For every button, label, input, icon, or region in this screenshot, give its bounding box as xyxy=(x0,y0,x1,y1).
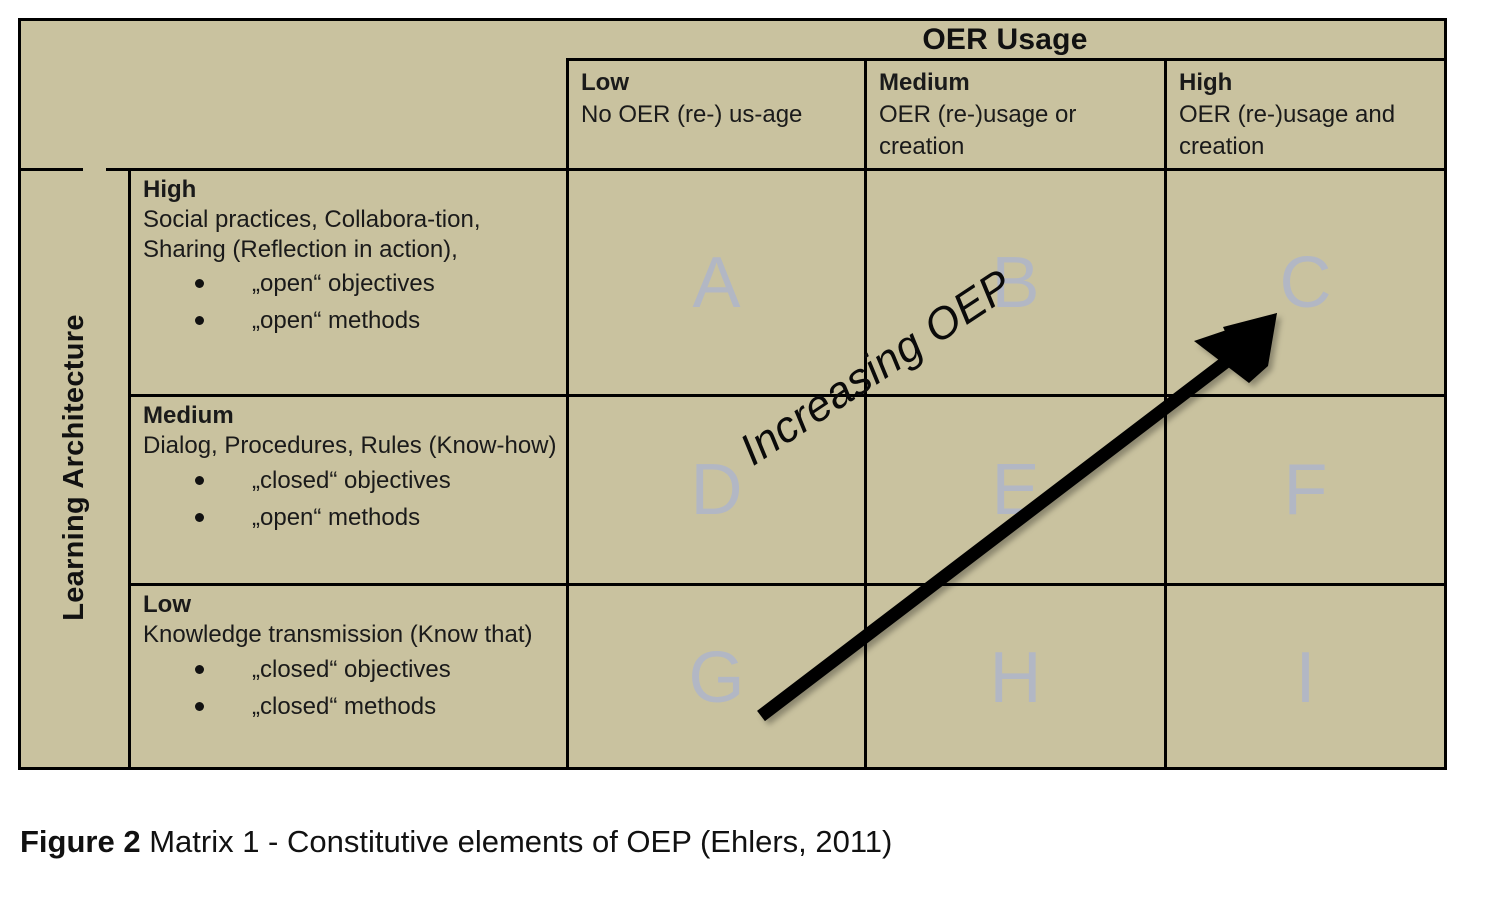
figure-caption: Figure 2 Matrix 1 - Constitutive element… xyxy=(20,824,892,860)
column-header-high: High OER (re-)usage and creation xyxy=(1167,61,1444,166)
matrix-cell-H: H xyxy=(867,586,1164,770)
list-item: „open“ methods xyxy=(195,302,558,339)
figure-caption-label: Figure 2 xyxy=(20,824,141,859)
row-header-low-description: Knowledge transmission (Know that) xyxy=(143,620,558,650)
list-item: „closed“ methods xyxy=(195,688,558,725)
row-header-high-description: Social practices, Collabora-tion, Sharin… xyxy=(143,205,558,265)
column-header-high-description: OER (re-)usage and creation xyxy=(1179,99,1434,163)
oep-matrix-table: OER Usage Low No OER (re-) us-age Medium… xyxy=(18,18,1447,770)
column-header-medium: Medium OER (re-)usage or creation xyxy=(867,61,1164,166)
list-item: „open“ objectives xyxy=(195,265,558,302)
column-header-medium-level: Medium xyxy=(879,67,1154,99)
matrix-cell-G: G xyxy=(569,586,864,770)
row-header-high: High Social practices, Collabora-tion, S… xyxy=(131,171,566,394)
row-header-high-bullets: „open“ objectives „open“ methods xyxy=(143,265,558,339)
column-axis-title: OER Usage xyxy=(566,21,1444,58)
row-header-medium-description: Dialog, Procedures, Rules (Know-how) xyxy=(143,431,558,461)
matrix-cell-C: C xyxy=(1167,171,1444,394)
column-header-low-level: Low xyxy=(581,67,854,99)
row-axis-title: Learning Architecture xyxy=(21,168,128,767)
column-header-low: Low No OER (re-) us-age xyxy=(569,61,864,166)
row-header-low-level: Low xyxy=(143,590,558,620)
figure-caption-text: Matrix 1 - Constitutive elements of OEP … xyxy=(141,824,893,859)
column-header-low-description: No OER (re-) us-age xyxy=(581,99,854,131)
matrix-cell-A: A xyxy=(569,171,864,394)
row-header-medium-bullets: „closed“ objectives „open“ methods xyxy=(143,462,558,536)
row-header-medium: Medium Dialog, Procedures, Rules (Know-h… xyxy=(131,397,566,583)
matrix-cell-E: E xyxy=(867,397,1164,583)
row-header-low: Low Knowledge transmission (Know that) „… xyxy=(131,586,566,770)
matrix-cell-I: I xyxy=(1167,586,1444,770)
row-header-low-bullets: „closed“ objectives „closed“ methods xyxy=(143,651,558,725)
column-header-medium-description: OER (re-)usage or creation xyxy=(879,99,1154,163)
figure-container: OER Usage Low No OER (re-) us-age Medium… xyxy=(0,0,1488,904)
matrix-cell-F: F xyxy=(1167,397,1444,583)
list-item: „closed“ objectives xyxy=(195,462,558,499)
row-header-high-level: High xyxy=(143,175,558,205)
row-axis-title-label: Learning Architecture xyxy=(58,314,91,621)
row-header-medium-level: Medium xyxy=(143,401,558,431)
column-header-high-level: High xyxy=(1179,67,1434,99)
list-item: „open“ methods xyxy=(195,499,558,536)
list-item: „closed“ objectives xyxy=(195,651,558,688)
